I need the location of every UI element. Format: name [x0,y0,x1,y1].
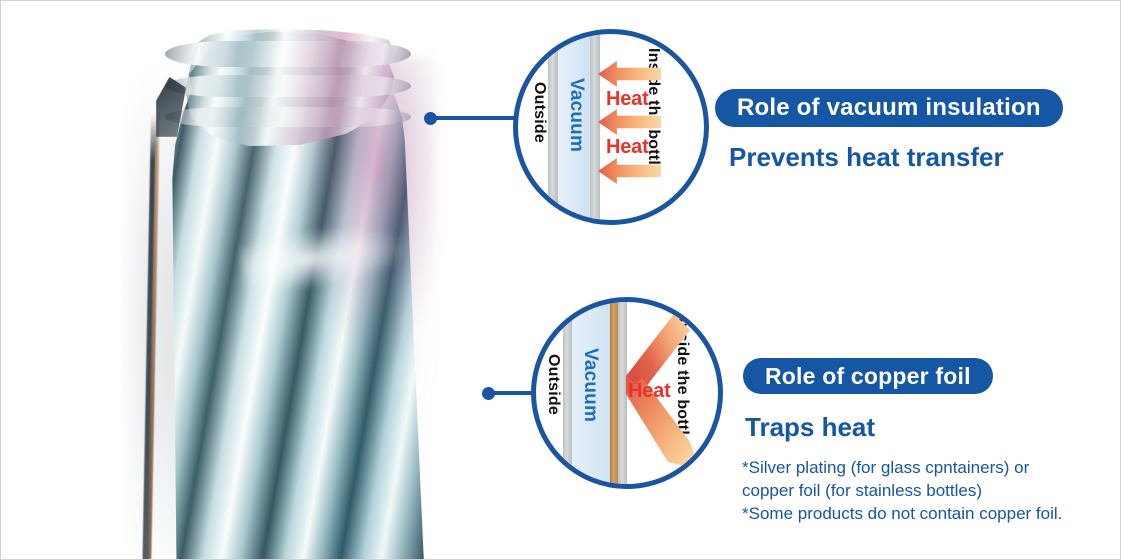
label-vacuum-vacuum: Vacuum [565,78,587,152]
bottle-thread-ring-2 [165,75,411,97]
callout-circle-vacuum-insulation: Outside Vacuum Inside the bottle Heat He… [513,29,709,225]
pill-role-of-copper-foil[interactable]: Role of copper foil [743,358,993,394]
bottle-neck-collar [153,29,421,151]
footnote-block: *Silver plating (for glass cpntainers) o… [742,457,1102,526]
infographic-canvas: Outside Vacuum Inside the bottle Heat He… [0,0,1121,560]
callout-circle-copper-foil: Outside Vacuum Inside the bottle [531,297,723,489]
bottle-left-edge-shadow [142,115,158,560]
bottle-product-image [121,0,451,560]
bottle-thread-ring-1 [165,41,411,67]
bottle-shoulder-highlight [238,217,414,297]
bottle-drop-shadow [131,27,441,560]
heat-label-copper: Heat [628,380,671,403]
subheading-traps-heat: Traps heat [745,412,875,443]
label-outside-vacuum: Outside [530,82,548,143]
outer-wall-layer [548,29,558,225]
inner-wall-layer [590,29,600,225]
bottle-left-rim-line [147,107,160,559]
footnote-line-2: copper foil (for stainless bottles) [742,480,1102,503]
footnote-line-1: *Silver plating (for glass cpntainers) o… [742,457,1102,480]
heat-label-2: Heat [606,136,649,159]
bottle-body [149,25,424,560]
bottle-thread-ring-3 [165,107,411,127]
heat-label-1: Heat [606,88,649,111]
bottle-iridescent-sheen [306,57,436,357]
pill-role-of-vacuum-insulation[interactable]: Role of vacuum insulation [715,89,1063,127]
subheading-prevents-heat-transfer: Prevents heat transfer [729,142,1004,173]
bottle-neck-notch [156,77,186,137]
footnote-line-3: *Some products do not contain copper foi… [742,503,1102,526]
